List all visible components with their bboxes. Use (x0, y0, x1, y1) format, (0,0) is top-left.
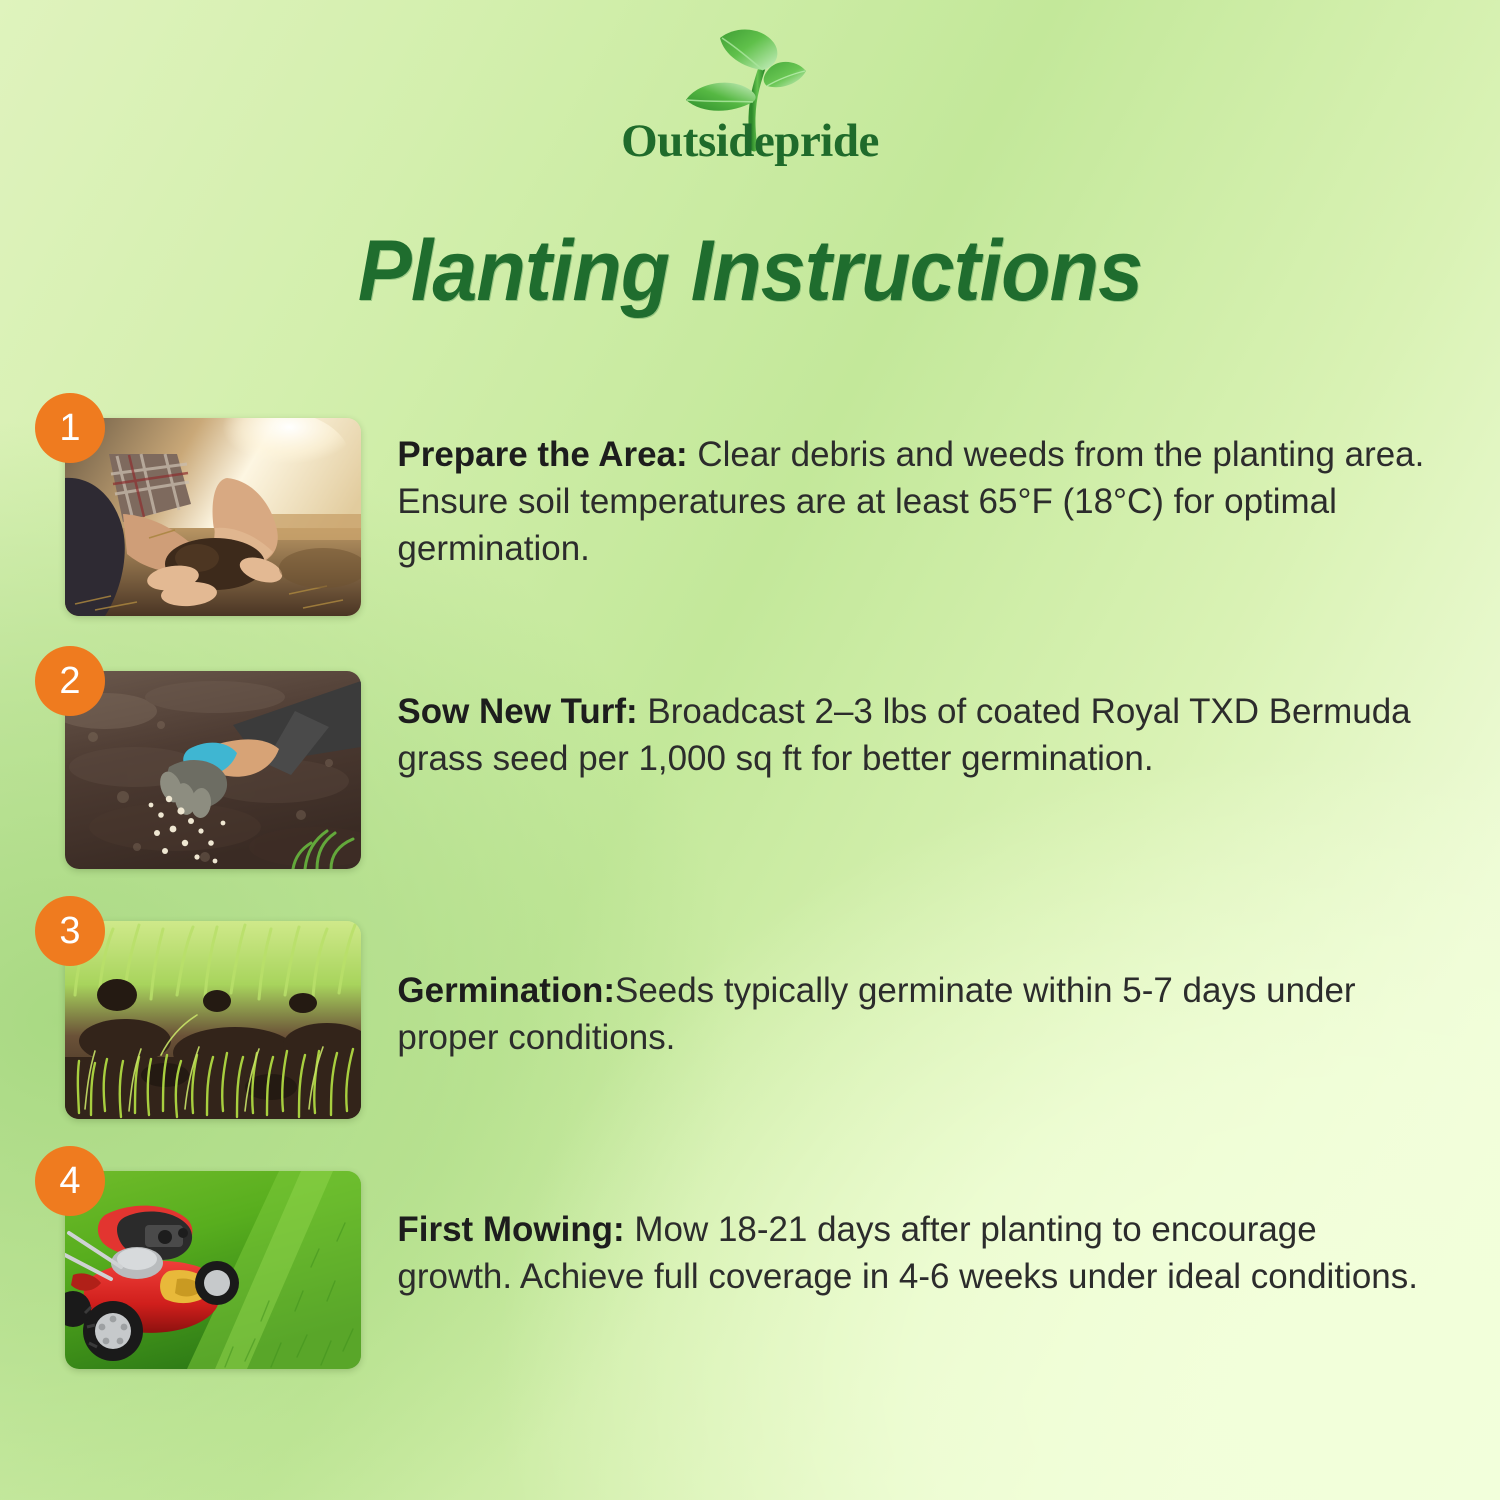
hands-in-soil-photo (65, 418, 361, 616)
step-badge-2: 2 (35, 646, 105, 716)
step-text-4: First Mowing: Mow 18-21 days after plant… (360, 1141, 1483, 1300)
hand-sowing-seed-photo (65, 671, 361, 869)
brand-wordmark: Outsidepride (0, 118, 1500, 165)
step-item-3: 3 Germination:Seeds typically germinate … (0, 891, 1500, 1141)
step-badge-4: 4 (35, 1146, 105, 1216)
step-item-2: 2 Sow New Turf: Broadcast 2–3 lbs of coa… (0, 641, 1500, 891)
page-background: Outsidepride Planting Instructions (0, 0, 1500, 1500)
brand-logo: Outsidepride (0, 22, 1500, 165)
step-text-3: Germination:Seeds typically germinate wi… (360, 891, 1483, 1061)
page-title: Planting Instructions (45, 222, 1455, 321)
step-text-2: Sow New Turf: Broadcast 2–3 lbs of coate… (360, 641, 1483, 782)
step-heading-1: Prepare the Area: (397, 434, 687, 474)
step-text-1: Prepare the Area: Clear debris and weeds… (360, 388, 1483, 573)
step-heading-2: Sow New Turf: (397, 691, 637, 731)
step-badge-1: 1 (35, 393, 105, 463)
step-badge-3: 3 (35, 896, 105, 966)
steps-list: 1 Prepare the Area: Clear debris and wee… (0, 388, 1500, 1391)
step-heading-4: First Mowing: (397, 1209, 624, 1249)
step-heading-3: Germination: (397, 970, 615, 1010)
step-item-4: 4 First Mowing: Mow 18-21 days after pla… (0, 1141, 1500, 1391)
grass-seedlings-photo (65, 921, 361, 1119)
step-item-1: 1 Prepare the Area: Clear debris and wee… (0, 388, 1500, 641)
lawn-mower-photo (65, 1171, 361, 1369)
